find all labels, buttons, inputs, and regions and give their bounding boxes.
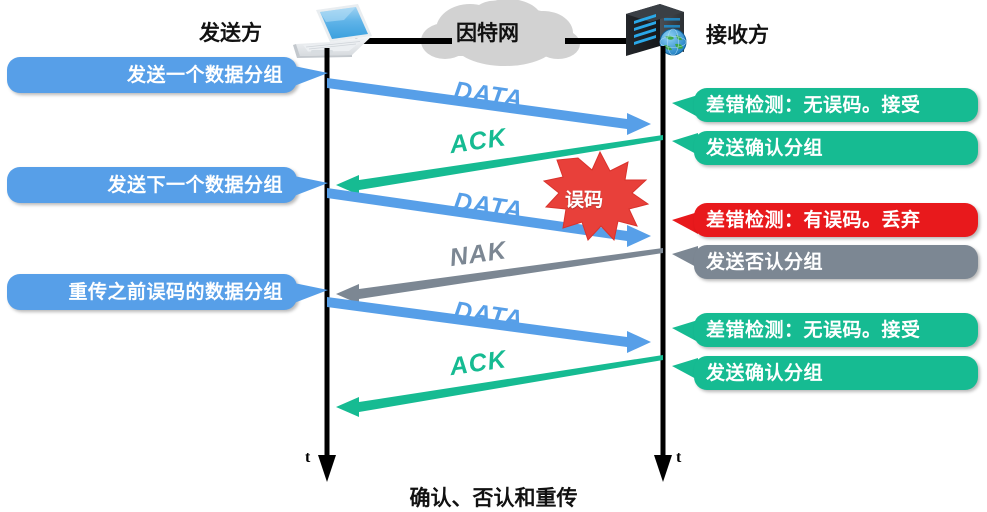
receiver-event-label: 发送确认分组 <box>706 364 823 383</box>
receiver-time-axis-label: t <box>676 449 681 467</box>
sender-time-axis-label: t <box>305 449 310 467</box>
callout-tail-sender-3 <box>294 283 328 303</box>
sender-event-label: 重传之前误码的数据分组 <box>68 283 283 302</box>
receiver-event-send-nak: 发送否认分组 <box>694 245 978 279</box>
receiver-event-label: 发送否认分组 <box>706 253 823 272</box>
sender-event-send-next-packet: 发送下一个数据分组 <box>7 167 297 203</box>
sender-event-send-first-packet: 发送一个数据分组 <box>7 57 297 93</box>
protocol-sequence-diagram: 发送方 接收方 因特网 发送一个数据分组 发送下一个数据分组 重传之前误码的数据… <box>0 0 987 511</box>
internet-cloud-label: 因特网 <box>456 17 519 47</box>
receiver-timeline <box>654 60 672 482</box>
receiver-event-send-ack-1: 发送确认分组 <box>694 131 978 165</box>
callout-tail-sender-2 <box>294 176 328 196</box>
error-burst-label: 误码 <box>565 185 603 212</box>
receiver-title: 接收方 <box>706 19 769 49</box>
receiver-event-check-error: 差错检测：有误码。丢弃 <box>694 203 978 237</box>
sender-event-label: 发送下一个数据分组 <box>107 176 283 195</box>
receiver-event-check-ok-1: 差错检测：无误码。接受 <box>694 88 978 122</box>
server-icon <box>626 4 686 56</box>
receiver-event-check-ok-2: 差错检测：无误码。接受 <box>694 313 978 347</box>
diagram-caption: 确认、否认和重传 <box>0 482 987 512</box>
receiver-event-label: 差错检测：无误码。接受 <box>706 321 921 340</box>
sender-event-label: 发送一个数据分组 <box>127 66 283 85</box>
callout-tail-sender-1 <box>294 66 328 86</box>
receiver-event-label: 发送确认分组 <box>706 139 823 158</box>
receiver-event-label: 差错检测：无误码。接受 <box>706 96 921 115</box>
sender-event-retransmit-errored-packet: 重传之前误码的数据分组 <box>7 274 297 310</box>
receiver-event-label: 差错检测：有误码。丢弃 <box>706 211 921 230</box>
sender-timeline <box>318 60 336 482</box>
receiver-event-send-ack-2: 发送确认分组 <box>694 356 978 390</box>
laptop-icon <box>293 4 372 58</box>
sender-title: 发送方 <box>199 17 262 47</box>
